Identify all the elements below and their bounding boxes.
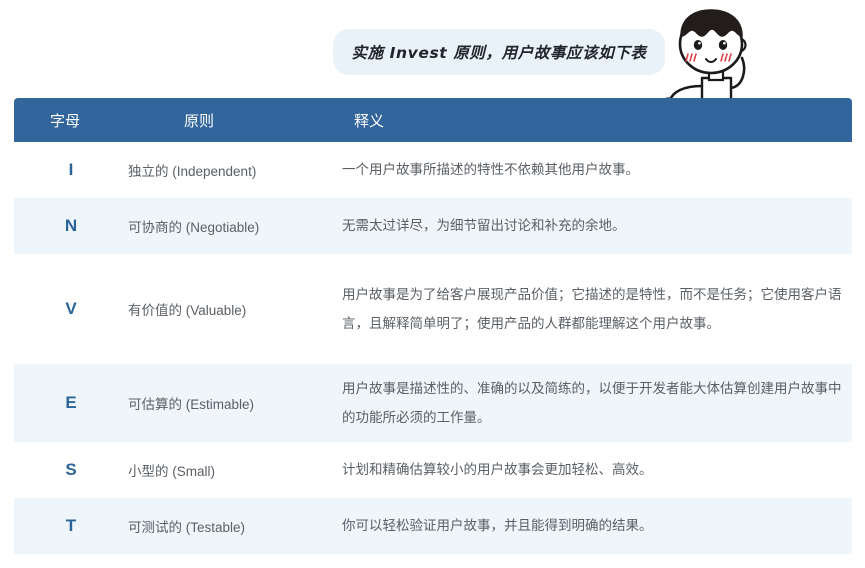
- column-header-letter: 字母: [14, 98, 128, 142]
- cell-letter: S: [14, 442, 128, 498]
- cell-principle: 小型的 (Small): [128, 442, 342, 498]
- cell-principle: 有价值的 (Valuable): [128, 254, 342, 364]
- column-header-principle: 原则: [128, 98, 342, 142]
- cell-meaning: 你可以轻松验证用户故事，并且能得到明确的结果。: [342, 498, 852, 554]
- table-body: I独立的 (Independent)一个用户故事所描述的特性不依赖其他用户故事。…: [14, 142, 852, 554]
- cell-meaning: 一个用户故事所描述的特性不依赖其他用户故事。: [342, 142, 852, 198]
- table-row: T可测试的 (Testable)你可以轻松验证用户故事，并且能得到明确的结果。: [14, 498, 852, 554]
- cell-letter: E: [14, 364, 128, 442]
- table-header: 字母 原则 释义: [14, 98, 852, 142]
- cell-meaning: 计划和精确估算较小的用户故事会更加轻松、高效。: [342, 442, 852, 498]
- cell-principle: 可协商的 (Negotiable): [128, 198, 342, 254]
- cell-principle: 独立的 (Independent): [128, 142, 342, 198]
- cell-letter: V: [14, 254, 128, 364]
- table-row: V有价值的 (Valuable)用户故事是为了给客户展现产品价值；它描述的是特性…: [14, 254, 852, 364]
- cell-meaning: 用户故事是描述性的、准确的以及简练的，以便于开发者能大体估算创建用户故事中的功能…: [342, 364, 852, 442]
- cell-principle: 可测试的 (Testable): [128, 498, 342, 554]
- speech-bubble: 实施 Invest 原则，用户故事应该如下表: [333, 29, 665, 75]
- cell-meaning: 用户故事是为了给客户展现产品价值；它描述的是特性，而不是任务；它使用客户语言，且…: [342, 254, 852, 364]
- cell-letter: I: [14, 142, 128, 198]
- cell-principle: 可估算的 (Estimable): [128, 364, 342, 442]
- header-illustration-area: 实施 Invest 原则，用户故事应该如下表: [0, 0, 865, 98]
- speech-bubble-text: 实施 Invest 原则，用户故事应该如下表: [351, 41, 646, 63]
- cell-letter: T: [14, 498, 128, 554]
- cell-letter: N: [14, 198, 128, 254]
- table-header-row: 字母 原则 释义: [14, 98, 852, 142]
- invest-principles-table: 字母 原则 释义 I独立的 (Independent)一个用户故事所描述的特性不…: [14, 98, 852, 554]
- table-row: E可估算的 (Estimable)用户故事是描述性的、准确的以及简练的，以便于开…: [14, 364, 852, 442]
- table-row: I独立的 (Independent)一个用户故事所描述的特性不依赖其他用户故事。: [14, 142, 852, 198]
- table-row: N可协商的 (Negotiable)无需太过详尽，为细节留出讨论和补充的余地。: [14, 198, 852, 254]
- column-header-meaning: 释义: [342, 98, 852, 142]
- cartoon-boy-icon: [655, 0, 785, 110]
- table-row: S小型的 (Small)计划和精确估算较小的用户故事会更加轻松、高效。: [14, 442, 852, 498]
- cell-meaning: 无需太过详尽，为细节留出讨论和补充的余地。: [342, 198, 852, 254]
